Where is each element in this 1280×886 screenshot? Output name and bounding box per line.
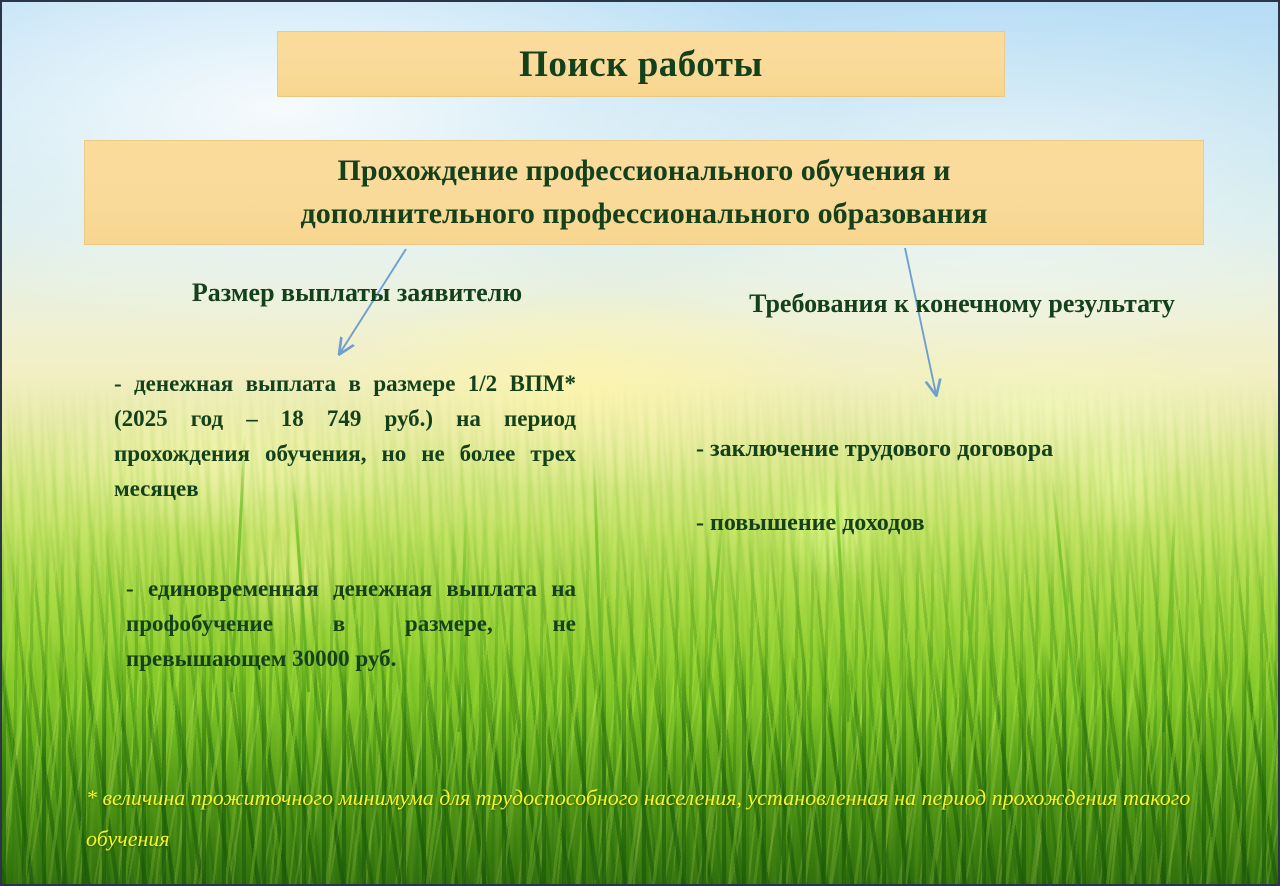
- right-column-bullet-2: - повышение доходов: [696, 510, 925, 537]
- right-column-heading: Требования к конечному результату: [702, 287, 1222, 320]
- subtitle-line-1: Прохождение профессионального обучения и: [338, 150, 951, 193]
- left-column-paragraph-1: - денежная выплата в размере 1/2 ВПМ* (2…: [114, 367, 576, 507]
- subtitle-line-2: дополнительного профессионального образо…: [301, 193, 988, 236]
- subtitle-banner: Прохождение профессионального обучения и…: [84, 140, 1204, 245]
- left-column-heading: Размер выплаты заявителю: [152, 276, 562, 309]
- right-column-bullet-1: - заключение трудового договора: [696, 436, 1053, 463]
- page-title: Поиск работы: [519, 46, 763, 83]
- footnote-text: * величина прожиточного минимума для тру…: [86, 778, 1206, 859]
- title-banner: Поиск работы: [277, 31, 1005, 97]
- slide-canvas: Поиск работы Прохождение профессионально…: [0, 0, 1280, 886]
- left-column-paragraph-2: - единовременная денежная выплата на про…: [126, 572, 576, 677]
